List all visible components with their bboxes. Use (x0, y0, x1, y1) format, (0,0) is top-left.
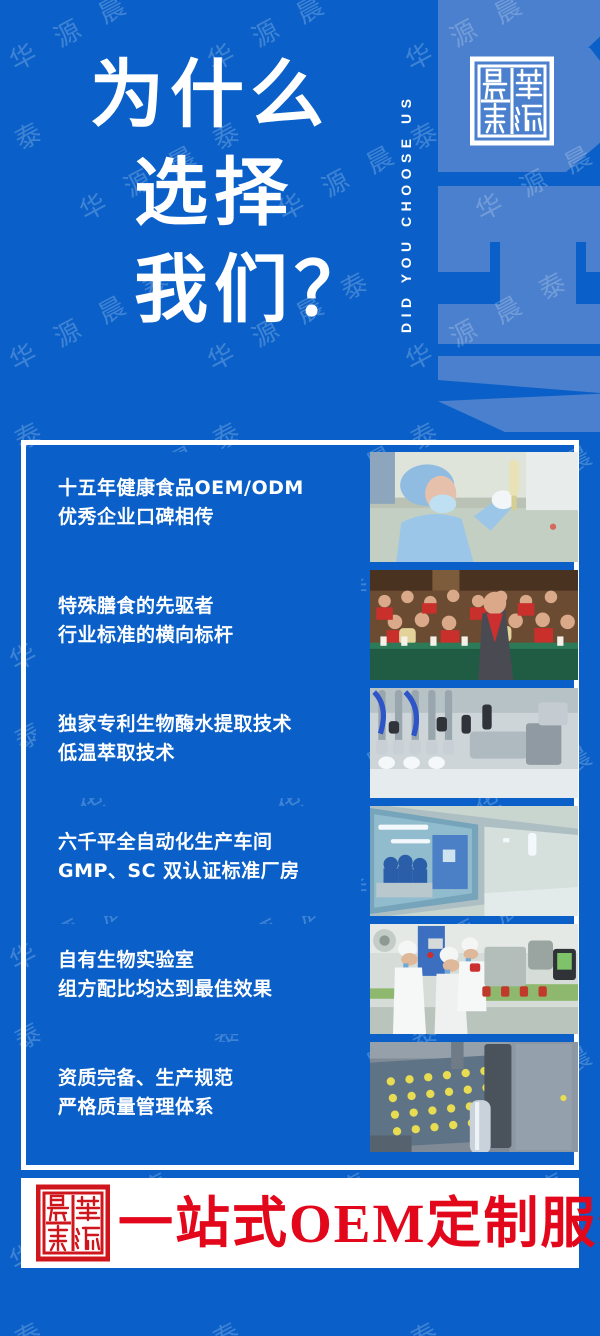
feature-photo-packaging-line-staff (370, 924, 578, 1034)
company-seal-icon (470, 56, 554, 146)
feature-card: 十五年健康食品OEM/ODM 优秀企业口碑相传 (36, 452, 361, 562)
feature-row: 六千平全自动化生产车间 GMP、SC 双认证标准厂房 (36, 806, 578, 916)
feature-card: 独家专利生物酶水提取技术 低温萃取技术 (36, 688, 361, 798)
watermark-text: 华 源 晨 泰 (270, 1309, 451, 1336)
feature-row: 特殊膳食的先驱者 行业标准的横向标杆 (36, 570, 578, 680)
feature-row: 自有生物实验室 组方配比均达到最佳效果 (36, 924, 578, 1034)
feature-photo-clean-room (370, 806, 578, 916)
watermark-text: 华 源 晨 泰 (596, 559, 600, 678)
feature-line-1: 十五年健康食品OEM/ODM (58, 474, 361, 503)
feature-photo-lab-technician (370, 452, 578, 562)
feature-line-1: 特殊膳食的先驱者 (58, 592, 361, 621)
vertical-tagline: DID YOU CHOOSE US (398, 28, 424, 398)
feature-line-1: 自有生物实验室 (58, 946, 361, 975)
feature-line-2: 行业标准的横向标杆 (58, 621, 361, 650)
feature-row: 独家专利生物酶水提取技术 低温萃取技术 (36, 688, 578, 798)
feature-card: 特殊膳食的先驱者 行业标准的横向标杆 (36, 570, 361, 680)
feature-line-1: 资质完备、生产规范 (58, 1064, 361, 1093)
feature-line-1: 独家专利生物酶水提取技术 (58, 710, 361, 739)
feature-photo-blister-pack-machine (370, 1042, 578, 1152)
feature-row: 资质完备、生产规范 严格质量管理体系 (36, 1042, 578, 1152)
poster-root: 为什么 选择 我们？ DID YOU CHOOSE US (0, 0, 600, 1336)
feature-card: 自有生物实验室 组方配比均达到最佳效果 (36, 924, 361, 1034)
title-line-2: 选择 (90, 146, 390, 244)
watermark-text: 华 源 晨 泰 (596, 859, 600, 978)
feature-list: 十五年健康食品OEM/ODM 优秀企业口碑相传 (36, 452, 578, 1152)
company-seal-red-icon (36, 1184, 110, 1262)
page-title: 为什么 选择 我们？ (90, 48, 390, 341)
feature-photo-filling-machinery (370, 688, 578, 798)
watermark-text: 华 源 晨 泰 (72, 1309, 253, 1336)
feature-photo-conference-audience (370, 570, 578, 680)
feature-row: 十五年健康食品OEM/ODM 优秀企业口碑相传 (36, 452, 578, 562)
feature-line-2: 严格质量管理体系 (58, 1093, 361, 1122)
feature-line-2: 组方配比均达到最佳效果 (58, 975, 361, 1004)
feature-line-2: 低温萃取技术 (58, 739, 361, 768)
footer-banner-text: 一站式OEM定制服务 (118, 1186, 568, 1260)
feature-card: 六千平全自动化生产车间 GMP、SC 双认证标准厂房 (36, 806, 361, 916)
feature-line-1: 六千平全自动化生产车间 (58, 828, 361, 857)
feature-line-2: 优秀企业口碑相传 (58, 503, 361, 532)
title-line-1: 为什么 (90, 48, 390, 146)
feature-line-2: GMP、SC 双认证标准厂房 (58, 857, 361, 886)
title-line-3: 我们？ (90, 243, 390, 341)
watermark-text: 华 源 晨 泰 (0, 1309, 55, 1336)
feature-card: 资质完备、生产规范 严格质量管理体系 (36, 1042, 361, 1152)
watermark-text: 华 源 晨 泰 (468, 1309, 600, 1336)
